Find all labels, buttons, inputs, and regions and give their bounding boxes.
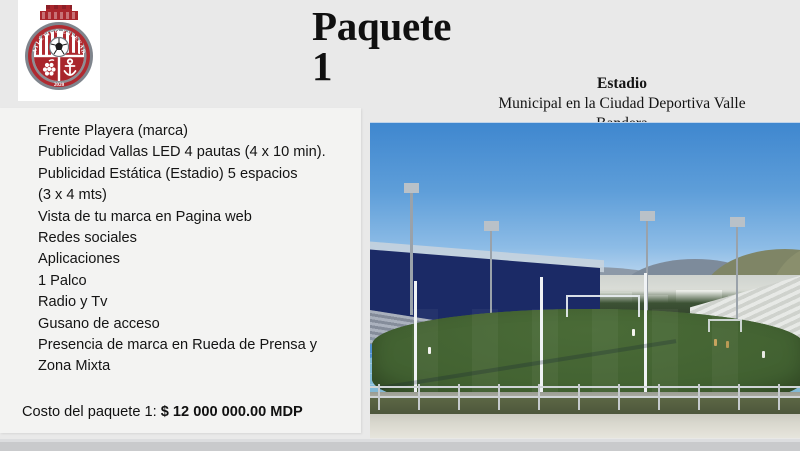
railing-post	[738, 384, 740, 410]
list-item: Redes sociales	[38, 228, 356, 249]
benefits-list: Frente Playera (marca) Publicidad Vallas…	[38, 121, 356, 378]
floodlight-head	[484, 221, 499, 231]
photo-caption-line-2: Municipal en la Ciudad Deportiva Valle	[446, 94, 798, 114]
railing-post	[698, 384, 700, 410]
page-title-line-1: Paquete	[312, 6, 572, 46]
player-figure	[726, 341, 729, 348]
package-cost-label: Costo del paquete 1:	[22, 404, 157, 420]
package-cost: Costo del paquete 1: $ 12 000 000.00 MDP	[22, 404, 303, 420]
railing-post	[618, 384, 620, 410]
club-logo: 2020 ATLÉTICO ENSENADA FC	[18, 0, 100, 101]
list-item: Publicidad Vallas LED 4 pautas (4 x 10 m…	[38, 142, 356, 163]
list-item: Vista de tu marca en Pagina web	[38, 207, 356, 228]
floodlight-mast	[410, 191, 413, 315]
list-item: (3 x 4 mts)	[38, 185, 356, 206]
railing-post	[778, 384, 780, 410]
railing-post	[418, 384, 420, 410]
photo-caption-heading: Estadio	[446, 74, 798, 94]
list-item: Aplicaciones	[38, 249, 356, 270]
list-item: Zona Mixta	[38, 356, 356, 377]
list-item: Publicidad Estática (Estadio) 5 espacios	[38, 164, 356, 185]
list-item: Presencia de marca en Rueda de Prensa y	[38, 335, 356, 356]
goal-post-near	[566, 295, 640, 317]
slide-root: 2020 ATLÉTICO ENSENADA FC Paquete 1 Esta…	[0, 0, 800, 451]
railing-post	[578, 384, 580, 410]
stadium-photo-inner	[370, 123, 800, 444]
floodlight-head	[404, 183, 419, 193]
player-figure	[714, 339, 717, 346]
list-item: 1 Palco	[38, 271, 356, 292]
floodlight-head	[640, 211, 655, 221]
railing-bar	[370, 396, 800, 398]
player-figure	[762, 351, 765, 358]
player-figure	[632, 329, 635, 336]
railing-post	[498, 384, 500, 410]
bottom-strip	[0, 442, 800, 451]
list-item: Radio y Tv	[38, 292, 356, 313]
railing-post	[378, 384, 380, 410]
package-cost-amount: $ 12 000 000.00 MDP	[161, 404, 303, 420]
list-item: Gusano de acceso	[38, 314, 356, 335]
goal-post-far	[708, 319, 742, 332]
railing-post	[538, 384, 540, 410]
logo-year: 2020	[54, 82, 65, 88]
player-figure	[428, 347, 431, 354]
safety-railing	[370, 384, 800, 410]
railing-post	[458, 384, 460, 410]
list-item: Frente Playera (marca)	[38, 121, 356, 142]
railing-post	[658, 384, 660, 410]
floodlight-head	[730, 217, 745, 227]
stadium-photo	[370, 122, 800, 444]
railing-bar	[370, 386, 800, 388]
